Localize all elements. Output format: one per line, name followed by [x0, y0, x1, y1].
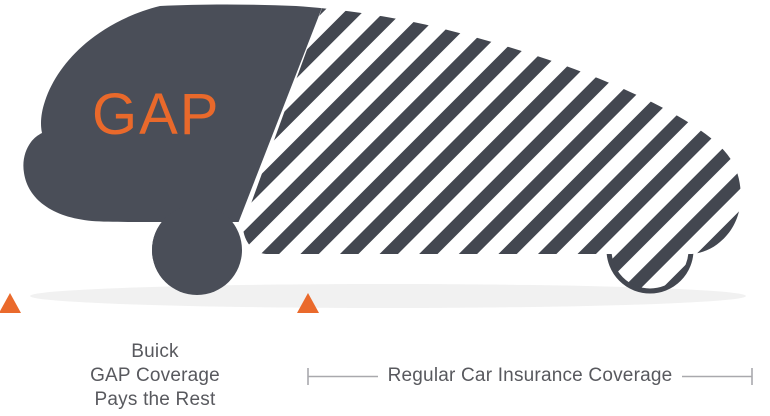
gap-label-on-vehicle: GAP — [92, 86, 221, 144]
caption-gap-coverage: Buick GAP Coverage Pays the Rest — [55, 340, 255, 412]
caption-left-line-2: GAP Coverage — [55, 364, 255, 388]
caption-regular-coverage: Regular Car Insurance Coverage — [370, 364, 690, 388]
caption-left-line-3: Pays the Rest — [55, 388, 255, 412]
triangle-marker-left — [0, 293, 21, 313]
caption-left-line-1: Buick — [55, 340, 255, 364]
infographic-canvas: GAP Buick GAP Coverage Pays the Rest Reg… — [0, 0, 770, 416]
